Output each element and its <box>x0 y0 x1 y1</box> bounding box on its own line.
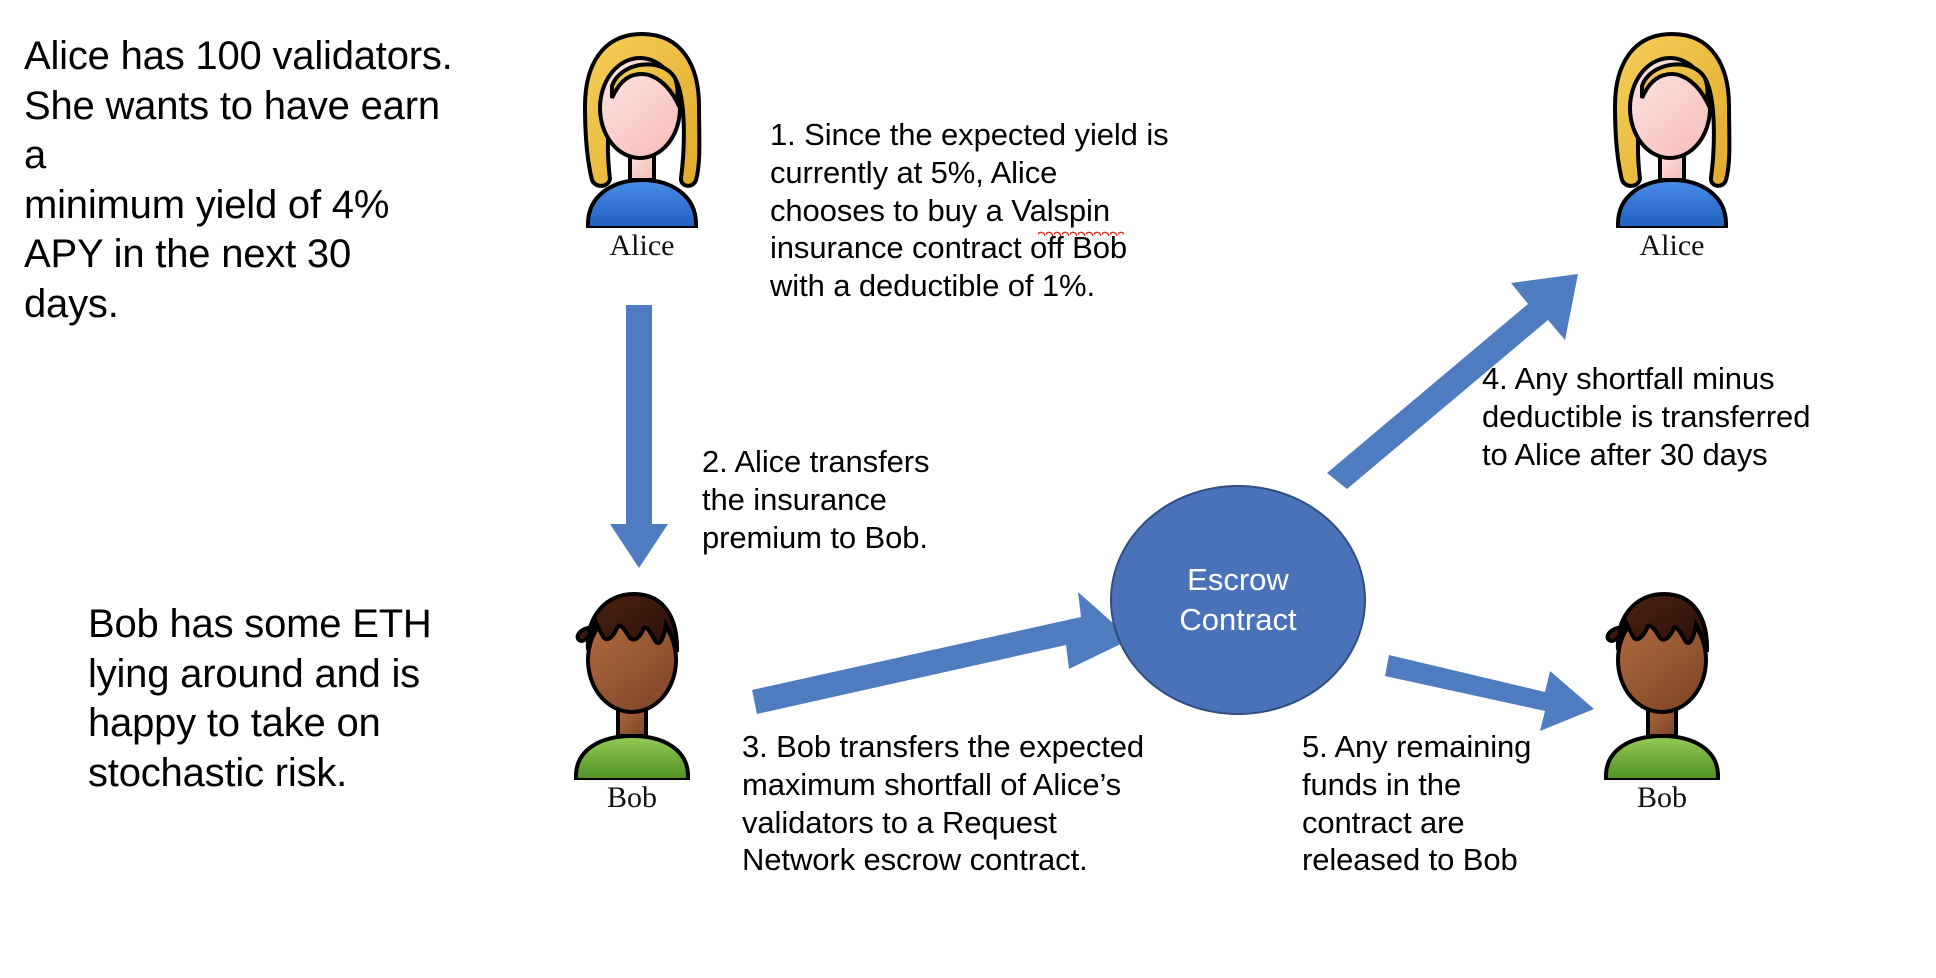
bob-narrative-text: Bob has some ETH lying around and is hap… <box>88 600 468 798</box>
arrow-alice-to-bob <box>610 305 668 568</box>
bob-avatar-icon <box>1588 580 1736 780</box>
avatar-label: Alice <box>568 229 716 263</box>
avatar-alice-top: Alice <box>568 28 716 263</box>
step-2-text: 2. Alice transfers the insurance premium… <box>702 443 992 556</box>
avatar-label: Alice <box>1598 229 1746 263</box>
avatar-label: Bob <box>558 781 706 815</box>
arrow-bob-to-escrow <box>752 592 1131 714</box>
step-5-text: 5. Any remaining funds in the contract a… <box>1302 728 1572 879</box>
alice-avatar-icon <box>568 28 716 228</box>
escrow-contract-label: Escrow Contract <box>1179 560 1296 639</box>
avatar-alice-right: Alice <box>1598 28 1746 263</box>
bob-avatar-icon <box>558 580 706 780</box>
alice-narrative-text: Alice has 100 validators. She wants to h… <box>24 32 454 330</box>
avatar-bob-left: Bob <box>558 580 706 815</box>
alice-avatar-icon <box>1598 28 1746 228</box>
arrow-escrow-to-bob <box>1385 655 1594 731</box>
step-3-text: 3. Bob transfers the expected maximum sh… <box>742 728 1212 879</box>
avatar-bob-right: Bob <box>1588 580 1736 815</box>
diagram-canvas: Alice has 100 validators. She wants to h… <box>0 0 1936 978</box>
step-1-text: 1. Since the expected yield is currently… <box>770 116 1240 305</box>
escrow-contract-node[interactable]: Escrow Contract <box>1110 485 1366 715</box>
spellcheck-squiggle-icon <box>1038 230 1124 236</box>
avatar-label: Bob <box>1588 781 1736 815</box>
step-4-text: 4. Any shortfall minus deductible is tra… <box>1482 360 1882 473</box>
